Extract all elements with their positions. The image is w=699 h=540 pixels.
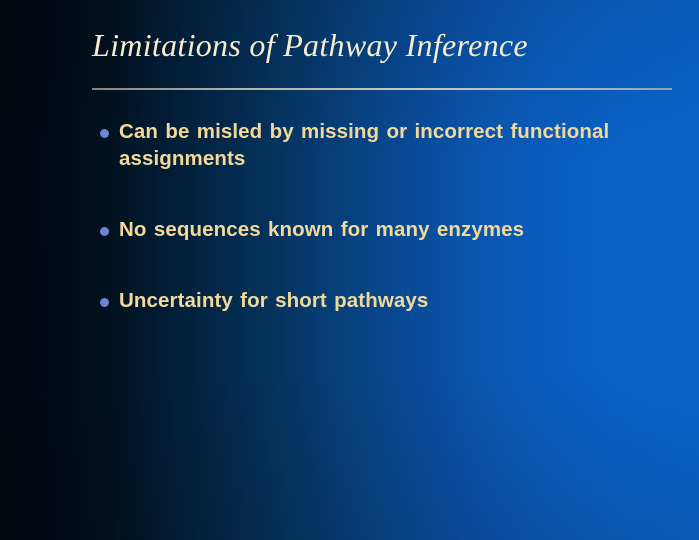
list-item-label: Uncertainty for short pathways [119, 287, 680, 314]
title-divider [92, 88, 672, 90]
round-bullet-icon [100, 129, 109, 138]
title-block: Limitations of Pathway Inference [92, 24, 678, 74]
round-bullet-icon [100, 227, 109, 236]
bullet-list: Can be misled by missing or incorrect fu… [100, 118, 680, 314]
list-item-label: No sequences known for many enzymes [119, 216, 680, 243]
list-item: Can be misled by missing or incorrect fu… [100, 118, 680, 172]
list-item-label: Can be misled by missing or incorrect fu… [119, 118, 680, 172]
presentation-slide: Limitations of Pathway Inference Can be … [0, 0, 699, 540]
list-item: Uncertainty for short pathways [100, 287, 680, 314]
round-bullet-icon [100, 298, 109, 307]
list-item: No sequences known for many enzymes [100, 216, 680, 243]
page-title: Limitations of Pathway Inference [92, 24, 678, 66]
